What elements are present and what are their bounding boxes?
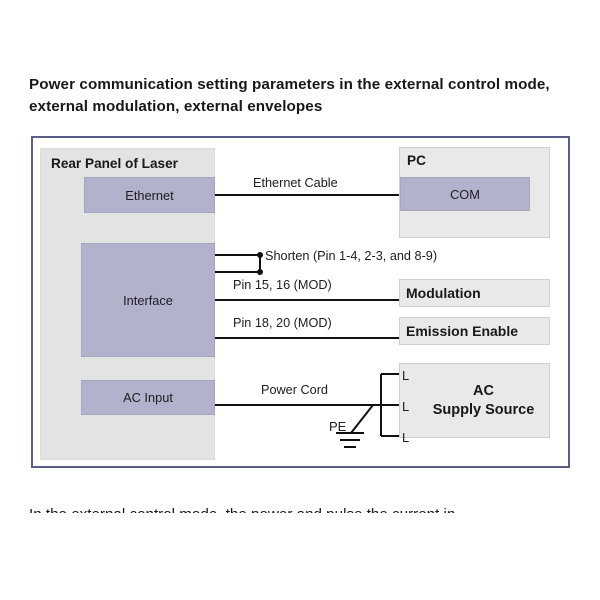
rear-panel-title: Rear Panel of Laser (51, 156, 178, 171)
port-ethernet-label: Ethernet (125, 188, 173, 203)
port-ethernet[interactable]: Ethernet (84, 177, 215, 213)
emission-enable-label: Emission Enable (406, 323, 518, 339)
pc-title: PC (407, 153, 426, 168)
label-ethernet-cable: Ethernet Cable (253, 176, 338, 190)
port-interface-label: Interface (123, 293, 173, 308)
ac-terminal-l-bot: L (402, 430, 409, 445)
pc-com-label: COM (450, 187, 480, 202)
label-power-cord: Power Cord (261, 383, 328, 397)
ac-supply-line1: AC (473, 382, 494, 401)
page-title: Power communication setting parameters i… (29, 74, 559, 118)
ac-terminal-l-top: L (402, 368, 409, 383)
ac-supply-source-block[interactable]: AC Supply Source (399, 363, 550, 438)
emission-enable-block[interactable]: Emission Enable (399, 317, 550, 345)
ac-supply-source-text: AC Supply Source (400, 364, 549, 437)
clipped-paragraph: In the external control mode, the power … (29, 504, 569, 513)
port-ac-input-label: AC Input (123, 390, 173, 405)
port-ac-input[interactable]: AC Input (81, 380, 215, 415)
modulation-block[interactable]: Modulation (399, 279, 550, 307)
pc-com-port[interactable]: COM (400, 177, 530, 211)
page-root: Power communication setting parameters i… (0, 0, 600, 600)
figure-frame: Rear Panel of Laser Ethernet Interface A… (31, 136, 570, 468)
label-modulation-pins: Pin 15, 16 (MOD) (233, 278, 332, 292)
pc-block[interactable]: PC COM (399, 147, 550, 238)
ac-supply-line2: Supply Source (433, 401, 535, 420)
label-pe-ground: PE (329, 419, 346, 434)
label-emission-pins: Pin 18, 20 (MOD) (233, 316, 332, 330)
ac-terminal-l-mid: L (402, 399, 409, 414)
wire-pe-diagonal (351, 405, 373, 433)
modulation-label: Modulation (406, 285, 481, 301)
port-interface[interactable]: Interface (81, 243, 215, 357)
jumper-dot-top (257, 252, 263, 258)
jumper-dot-bottom (257, 269, 263, 275)
label-shorten-jumper: Shorten (Pin 1-4, 2-3, and 8-9) (265, 249, 437, 263)
